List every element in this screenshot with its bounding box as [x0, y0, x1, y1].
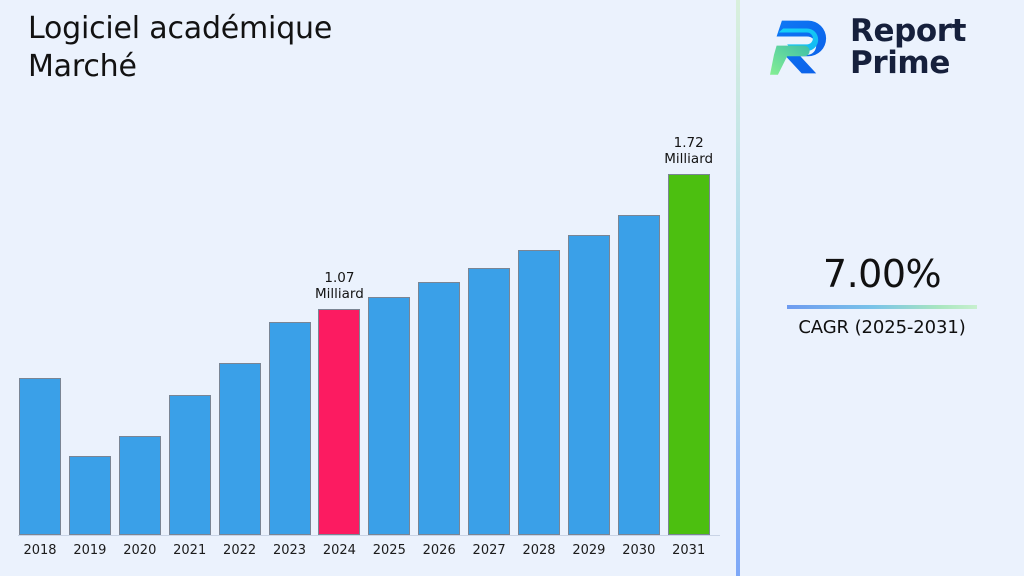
bar-2019 — [69, 456, 111, 535]
x-axis-line — [18, 535, 720, 536]
bar-2018 — [19, 378, 61, 535]
bar-2024 — [318, 309, 360, 535]
cagr-value: 7.00% — [740, 255, 1024, 295]
bar-2029 — [568, 235, 610, 535]
bar-chart-plot: 20182019202020212022202320241.07 Milliar… — [0, 0, 737, 576]
bar-2020 — [119, 436, 161, 535]
bar-2031 — [668, 174, 710, 535]
bar-2023 — [269, 322, 311, 535]
cagr-label: CAGR (2025-2031) — [740, 317, 1024, 338]
branding-panel: Report Prime 7.00% CAGR (2025-2031) — [740, 0, 1024, 576]
bar-2026 — [418, 282, 460, 535]
bar-2021 — [169, 395, 211, 535]
bar-2022 — [219, 363, 261, 535]
cagr-block: 7.00% CAGR (2025-2031) — [740, 255, 1024, 338]
brand-logo-text: Report Prime — [850, 15, 966, 79]
bar-2025 — [368, 297, 410, 535]
report-prime-mark-icon — [770, 14, 836, 80]
x-tick-label-2031: 2031 — [658, 543, 720, 558]
bar-2028 — [518, 250, 560, 535]
cagr-divider-rule — [787, 305, 977, 309]
chart-panel: Logiciel académique Marché 2018201920202… — [0, 0, 737, 576]
chart-infographic: Logiciel académique Marché 2018201920202… — [0, 0, 1024, 576]
bar-2027 — [468, 268, 510, 535]
bar-value-label-2031: 1.72 Milliard — [644, 135, 734, 168]
brand-logo: Report Prime — [770, 14, 966, 80]
bar-2030 — [618, 215, 660, 535]
